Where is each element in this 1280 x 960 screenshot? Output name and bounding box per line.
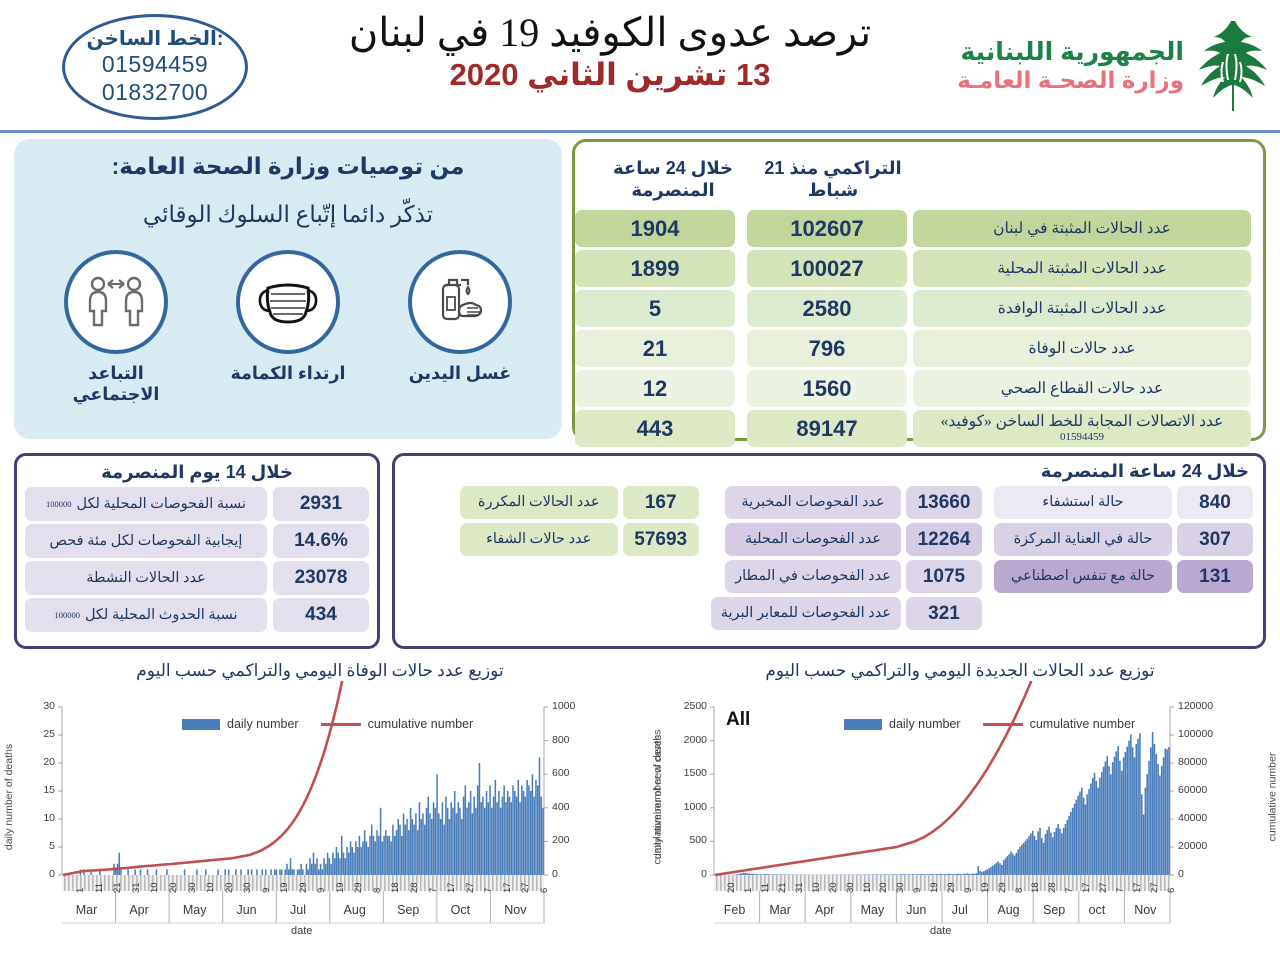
list-item: 14.6%إيجابية الفحوصات لكل مئة فحص: [25, 524, 369, 558]
x-axis-tick: 19: [279, 882, 290, 893]
metric-label: إيجابية الفحوصات لكل مئة فحص: [25, 524, 267, 558]
x-axis-tick: 17: [446, 882, 457, 893]
x-axis-tick: 1: [743, 888, 754, 893]
x-axis-month-label: Nov: [1134, 903, 1156, 917]
x-axis-tick: 7: [1064, 888, 1075, 893]
hotline-number-2: 01832700: [102, 79, 208, 107]
secondary-row: خلال 14 يوم المنصرمة 2931نسبة الفحوصات ا…: [0, 451, 1280, 659]
republic-name: الجمهورية اللبنانية: [957, 38, 1184, 67]
header-spacer: [913, 148, 1251, 210]
list-item: 13660عدد الفحوصات المخبرية: [711, 486, 982, 519]
y-axis-tick: 500: [689, 834, 707, 846]
chart-legend: daily numbercumulative number: [182, 717, 473, 731]
x-axis-month-label: Oct: [451, 903, 470, 917]
list-item: 321عدد الفحوصات للمعابر البرية: [711, 597, 982, 630]
x-axis-tick: 21: [112, 882, 123, 893]
table-row: عدد الحالات المثبتة الوافدة25805: [587, 290, 1251, 327]
list-item: 1075عدد الفحوصات في المطار: [711, 560, 982, 593]
y-axis-tick: 2500: [684, 700, 707, 712]
legend-item-daily: daily number: [844, 717, 961, 731]
title-date: 13 تشرين الثاني 2020: [300, 56, 920, 95]
x-axis-tick: 6: [1166, 888, 1177, 893]
fourteen-day-rows: 2931نسبة الفحوصات المحلية لكل10000014.6%…: [25, 487, 369, 632]
recovery-column: 167عدد الحالات المكررة57693عدد حالات الش…: [460, 486, 699, 630]
x-axis-tick: 20: [878, 882, 889, 893]
x-axis-month-label: Apr: [815, 903, 834, 917]
y2-axis-tick: 20000: [1178, 840, 1207, 852]
y2-axis-tick: 60000: [1178, 784, 1207, 796]
x-axis-month-label: Feb: [724, 903, 746, 917]
stat-cumulative-value: 89147: [747, 410, 907, 447]
x-axis-month-label: Jun: [236, 903, 256, 917]
stat-label: عدد حالات القطاع الصحي: [913, 370, 1251, 407]
summary-row: من توصيات وزارة الصحة العامة: تذكّر دائم…: [0, 133, 1280, 451]
x-axis-tick: 10: [149, 882, 160, 893]
twentyfour-hour-panel: خلال 24 ساعة المنصرمة 840حالة استشفاء307…: [392, 453, 1266, 649]
stat-24h-value: 5: [575, 290, 735, 327]
metric-label: عدد الفحوصات المخبرية: [725, 486, 901, 519]
y-axis-tick: 25: [43, 728, 55, 740]
stat-cumulative-value: 2580: [747, 290, 907, 327]
list-item: 434نسبة الحدوث المحلية لكل100000: [25, 598, 369, 632]
stat-24h-value: 21: [575, 330, 735, 367]
hotline-label: الخط الساخن:: [86, 28, 223, 51]
x-axis-month-label: Nov: [504, 903, 526, 917]
page-title: ترصد عدوى الكوفيد 19 في لبنان 13 تشرين ا…: [300, 8, 920, 95]
x-axis-tick: 29: [946, 882, 957, 893]
y-axis-tick: 0: [701, 868, 707, 880]
ministry-logo: الجمهورية اللبنانية وزارة الصحـة العامـة: [957, 18, 1268, 114]
x-axis-tick: 19: [980, 882, 991, 893]
x-axis-tick: 7: [483, 888, 494, 893]
legend-swatch-daily: [844, 719, 882, 730]
x-axis-label: date: [291, 925, 312, 937]
advice-icon-list: غسل اليدين ارتداء الكمامة: [14, 250, 562, 405]
y-axis-tick: 10: [43, 812, 55, 824]
table-row: عدد حالات الوفاة79621: [587, 330, 1251, 367]
statistics-header-row: التراكمي منذ 21 شباط خلال 24 ساعة المنصر…: [587, 148, 1251, 210]
x-axis-tick: 30: [895, 882, 906, 893]
legend-label-daily: daily number: [889, 717, 961, 731]
x-axis-month-label: Sep: [397, 903, 419, 917]
legend-label-daily: daily number: [227, 717, 299, 731]
x-axis-month-label: Jul: [290, 903, 306, 917]
x-axis-tick: 20: [168, 882, 179, 893]
cases-chart: توزيع عدد الحالات الجديدة اليومي والتراك…: [640, 659, 1280, 949]
x-axis-tick: 9: [963, 888, 974, 893]
metric-label: حالة في العناية المركزة: [994, 523, 1172, 556]
advice-title: من توصيات وزارة الصحة العامة:: [14, 153, 562, 180]
legend-item-daily: daily number: [182, 717, 299, 731]
metric-value: 131: [1177, 560, 1253, 593]
x-axis-tick: 29: [298, 882, 309, 893]
stat-24h-value: 1904: [575, 210, 735, 247]
x-axis-tick: 27: [1098, 882, 1109, 893]
y-axis-tick: 0: [49, 868, 55, 880]
x-axis-tick: 21: [777, 882, 788, 893]
legend-label-cumulative: cumulative number: [1030, 717, 1136, 731]
table-row: عدد الاتصالات المجابة للخط الساخن «كوفيد…: [587, 410, 1251, 447]
y-axis-tick: 5: [49, 840, 55, 852]
hospital-column: 840حالة استشفاء307حالة في العناية المركز…: [994, 486, 1253, 630]
x-axis-tick: 10: [862, 882, 873, 893]
advice-label-mask: ارتداء الكمامة: [225, 363, 351, 384]
y2-axis-tick: 1000: [552, 700, 575, 712]
x-axis-tick: 28: [409, 882, 420, 893]
x-axis-tick: 8: [372, 888, 383, 893]
y-axis-tick: 20: [43, 756, 55, 768]
x-axis-tick: 30: [187, 882, 198, 893]
legend-item-cumulative: cumulative number: [321, 717, 474, 731]
list-item: 307حالة في العناية المركزة: [994, 523, 1253, 556]
x-axis-month-label: May: [183, 903, 207, 917]
x-axis-tick: 9: [912, 888, 923, 893]
x-axis-tick: 20: [726, 882, 737, 893]
fourteen-day-title: خلال 14 يوم المنصرمة: [25, 462, 369, 483]
x-axis-month-label: Mar: [76, 903, 98, 917]
stat-label: عدد الحالات المثبتة في لبنان: [913, 210, 1251, 247]
x-axis-tick: 9: [261, 888, 272, 893]
x-axis-tick: 20: [224, 882, 235, 893]
metric-value: 23078: [273, 561, 369, 595]
y2-axis-tick: 40000: [1178, 812, 1207, 824]
stat-24h-value: 1899: [575, 250, 735, 287]
y2-axis-label: cumulative number: [1266, 753, 1278, 842]
x-axis-tick: 18: [1030, 882, 1041, 893]
deaths-chart-title: توزيع عدد حالات الوفاة اليومي والتراكمي …: [0, 661, 640, 681]
metric-label: نسبة الحدوث المحلية لكل100000: [25, 598, 267, 632]
x-axis-tick: 9: [316, 888, 327, 893]
x-axis-tick: 7: [1115, 888, 1126, 893]
metric-value: 434: [273, 598, 369, 632]
y2-axis-tick: 200: [552, 834, 570, 846]
x-axis-tick: 27: [520, 882, 531, 893]
metric-label: عدد حالات الشفاء: [460, 523, 618, 556]
list-item: 2931نسبة الفحوصات المحلية لكل100000: [25, 487, 369, 521]
x-axis-tick: 18: [390, 882, 401, 893]
stat-24h-value: 12: [575, 370, 735, 407]
y2-axis-tick: 400: [552, 801, 570, 813]
stat-cumulative-value: 102607: [747, 210, 907, 247]
stat-cumulative-value: 1560: [747, 370, 907, 407]
x-axis-month-label: Jul: [952, 903, 968, 917]
advice-label-distancing: التباعد الاجتماعي: [53, 363, 179, 405]
x-axis-tick: 11: [94, 883, 105, 893]
x-axis-tick: 19: [335, 882, 346, 893]
legend-item-cumulative: cumulative number: [983, 717, 1136, 731]
advice-label-handwash: غسل اليدين: [397, 363, 523, 384]
metric-value: 1075: [906, 560, 982, 593]
y-axis-tick: 30: [43, 700, 55, 712]
metric-label: عدد الفحوصات المحلية: [725, 523, 901, 556]
x-axis-month-label: May: [861, 903, 885, 917]
y-axis-tick: 1000: [684, 801, 707, 813]
stat-label: عدد الحالات المثبتة الوافدة: [913, 290, 1251, 327]
cedar-tree-icon: [1194, 18, 1268, 114]
advice-item-distancing: التباعد الاجتماعي: [53, 250, 179, 405]
stat-24h-value: 443: [575, 410, 735, 447]
health-advice-panel: من توصيات وزارة الصحة العامة: تذكّر دائم…: [14, 139, 562, 439]
list-item: 131حالة مع تنفس اصطناعي: [994, 560, 1253, 593]
x-axis-tick: 11: [760, 883, 771, 893]
legend-swatch-cumulative: [321, 723, 361, 726]
y-axis-tick: 2000: [684, 734, 707, 746]
column-header-24h: خلال 24 ساعة المنصرمة: [593, 148, 753, 210]
chart-annotation: All: [726, 709, 750, 731]
y-axis-label: daily number of new cases: [652, 735, 664, 859]
stat-label: عدد الاتصالات المجابة للخط الساخن «كوفيد…: [913, 410, 1251, 447]
y2-axis-tick: 100000: [1178, 728, 1213, 740]
x-axis-tick: 17: [1081, 882, 1092, 893]
y2-axis-tick: 120000: [1178, 700, 1213, 712]
tests-column: 13660عدد الفحوصات المخبرية12264عدد الفحو…: [711, 486, 982, 630]
list-item: 57693عدد حالات الشفاء: [460, 523, 699, 556]
x-axis-tick: 29: [353, 882, 364, 893]
list-item: 840حالة استشفاء: [994, 486, 1253, 519]
x-axis-tick: 29: [997, 882, 1008, 893]
page-header: الخط الساخن: 01594459 01832700 ترصد عدوى…: [0, 0, 1280, 133]
metric-label: عدد الحالات المكررة: [460, 486, 618, 519]
x-axis-tick: 31: [131, 882, 142, 893]
stat-label: عدد حالات الوفاة: [913, 330, 1251, 367]
y-axis-label: daily number of deaths: [3, 744, 15, 850]
y-axis-tick: 1500: [684, 767, 707, 779]
y2-axis-tick: 800: [552, 734, 570, 746]
x-axis-month-label: Aug: [344, 903, 366, 917]
x-axis-tick: 27: [1149, 882, 1160, 893]
metric-value: 321: [906, 597, 982, 630]
metric-label: عدد الحالات النشطة: [25, 561, 267, 595]
metric-value: 307: [1177, 523, 1253, 556]
x-axis-tick: 30: [845, 882, 856, 893]
metric-value: 13660: [906, 486, 982, 519]
ministry-name: وزارة الصحـة العامـة: [957, 67, 1184, 93]
fourteen-day-panel: خلال 14 يوم المنصرمة 2931نسبة الفحوصات ا…: [14, 453, 380, 649]
hotline-badge: الخط الساخن: 01594459 01832700: [62, 14, 248, 120]
x-axis-tick: 1: [75, 888, 86, 893]
table-row: عدد حالات القطاع الصحي156012: [587, 370, 1251, 407]
x-axis-tick: 10: [205, 882, 216, 893]
y-axis-tick: 15: [43, 784, 55, 796]
x-axis-tick: 6: [539, 888, 550, 893]
metric-value: 12264: [906, 523, 982, 556]
social-distancing-icon: [64, 250, 168, 354]
column-header-cumulative: التراكمي منذ 21 شباط: [753, 148, 913, 210]
twentyfour-hour-columns: 840حالة استشفاء307حالة في العناية المركز…: [405, 486, 1253, 630]
list-item: 167عدد الحالات المكررة: [460, 486, 699, 519]
stat-cumulative-value: 796: [747, 330, 907, 367]
deaths-plot-area: 05101520253002004006008001000daily numbe…: [0, 681, 640, 943]
x-axis-tick: 7: [428, 888, 439, 893]
metric-value: 2931: [273, 487, 369, 521]
legend-label-cumulative: cumulative number: [368, 717, 474, 731]
x-axis-month-label: Apr: [129, 903, 148, 917]
metric-value: 14.6%: [273, 524, 369, 558]
stat-label: عدد الحالات المثبتة المحلية: [913, 250, 1251, 287]
x-axis-tick: 17: [502, 882, 513, 893]
x-axis-tick: 19: [929, 882, 940, 893]
y2-axis-tick: 80000: [1178, 756, 1207, 768]
list-item: 12264عدد الفحوصات المحلية: [711, 523, 982, 556]
y2-axis-tick: 0: [552, 868, 558, 880]
x-axis-month-label: Aug: [997, 903, 1019, 917]
metric-label: عدد الفحوصات في المطار: [725, 560, 901, 593]
x-axis-tick: 28: [1047, 882, 1058, 893]
table-row: عدد الحالات المثبتة في لبنان1026071904: [587, 210, 1251, 247]
advice-subtitle: تذكّر دائما إتّباع السلوك الوقائي: [14, 202, 562, 228]
x-axis-month-label: Mar: [769, 903, 791, 917]
metric-value: 167: [623, 486, 699, 519]
hotline-number-1: 01594459: [102, 51, 208, 79]
stat-cumulative-value: 100027: [747, 250, 907, 287]
x-axis-label: date: [930, 925, 951, 937]
x-axis-month-label: Jun: [906, 903, 926, 917]
face-mask-icon: [236, 250, 340, 354]
metric-label: حالة استشفاء: [994, 486, 1172, 519]
metric-value: 840: [1177, 486, 1253, 519]
cases-chart-title: توزيع عدد الحالات الجديدة اليومي والتراك…: [640, 661, 1280, 681]
x-axis-tick: 8: [1014, 888, 1025, 893]
metric-label: حالة مع تنفس اصطناعي: [994, 560, 1172, 593]
charts-row: توزيع عدد حالات الوفاة اليومي والتراكمي …: [0, 659, 1280, 949]
x-axis-month-label: Sep: [1043, 903, 1065, 917]
hand-washing-icon: [408, 250, 512, 354]
list-item: 23078عدد الحالات النشطة: [25, 561, 369, 595]
table-row: عدد الحالات المثبتة المحلية1000271899: [587, 250, 1251, 287]
x-axis-tick: 30: [242, 882, 253, 893]
statistics-rows: عدد الحالات المثبتة في لبنان1026071904عد…: [587, 210, 1251, 447]
advice-item-handwash: غسل اليدين: [397, 250, 523, 405]
x-axis-tick: 17: [1132, 882, 1143, 893]
deaths-chart: توزيع عدد حالات الوفاة اليومي والتراكمي …: [0, 659, 640, 949]
y2-axis-tick: 0: [1178, 868, 1184, 880]
legend-swatch-daily: [182, 719, 220, 730]
metric-value: 57693: [623, 523, 699, 556]
x-axis-tick: 31: [794, 882, 805, 893]
x-axis-tick: 27: [465, 882, 476, 893]
title-main: ترصد عدوى الكوفيد 19 في لبنان: [300, 8, 920, 58]
y2-axis-tick: 600: [552, 767, 570, 779]
metric-label: عدد الفحوصات للمعابر البرية: [711, 597, 901, 630]
legend-swatch-cumulative: [983, 723, 1023, 726]
advice-item-mask: ارتداء الكمامة: [225, 250, 351, 405]
cases-plot-area: 0500100015002000250002000040000600008000…: [640, 681, 1280, 943]
chart-legend: daily numbercumulative number: [844, 717, 1135, 731]
x-axis-month-label: oct: [1089, 903, 1106, 917]
x-axis-tick: 10: [811, 882, 822, 893]
x-axis-tick: 20: [828, 882, 839, 893]
ministry-logo-text: الجمهورية اللبنانية وزارة الصحـة العامـة: [957, 38, 1184, 93]
main-statistics-panel: التراكمي منذ 21 شباط خلال 24 ساعة المنصر…: [572, 139, 1266, 441]
metric-label: نسبة الفحوصات المحلية لكل100000: [25, 487, 267, 521]
twentyfour-hour-title: خلال 24 ساعة المنصرمة: [405, 461, 1249, 482]
